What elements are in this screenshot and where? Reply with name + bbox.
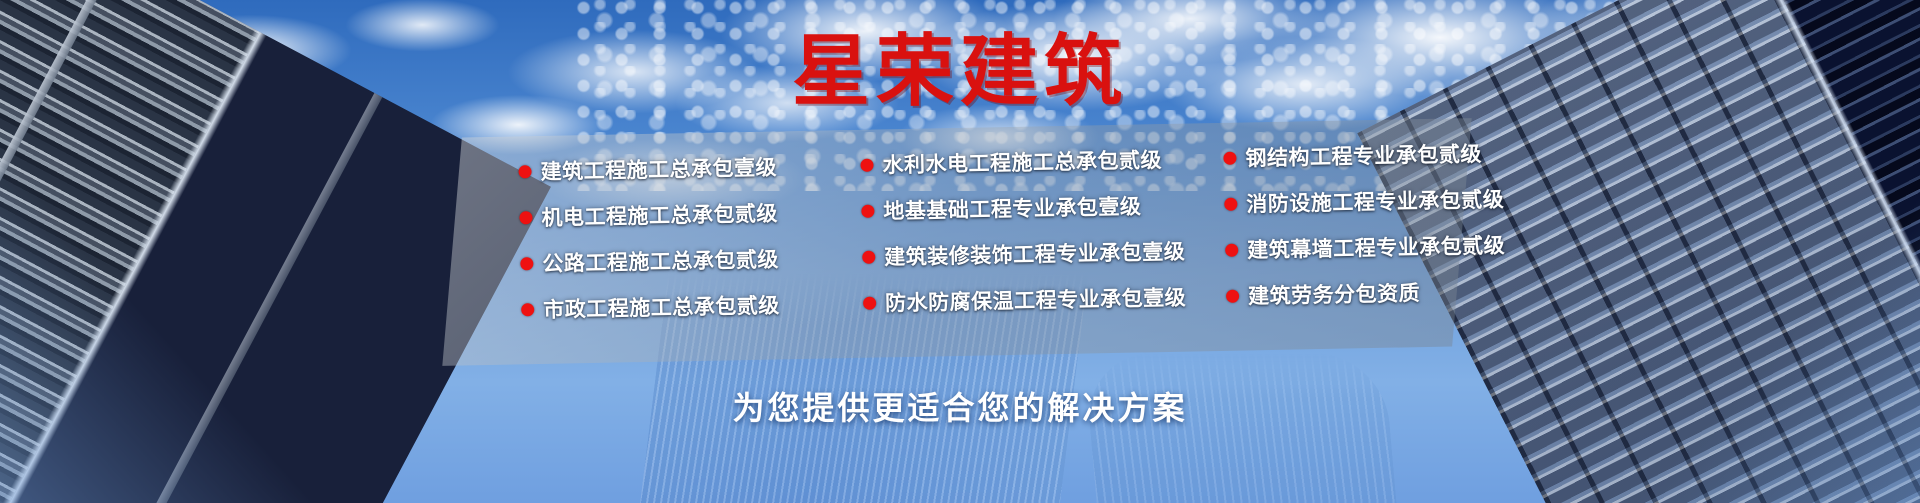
list-item: 机电工程施工总承包贰级 — [519, 194, 850, 234]
list-item: 建筑幕墙工程专业承包贰级 — [1225, 227, 1556, 267]
list-item-label: 机电工程施工总承包贰级 — [541, 197, 778, 232]
qualification-column-3: 钢结构工程专业承包贰级 消防设施工程专业承包贰级 建筑幕墙工程专业承包贰级 建筑… — [1205, 135, 1557, 352]
qualification-list: 建筑工程施工总承包壹级 机电工程施工总承包贰级 公路工程施工总承包贰级 市政工程… — [450, 118, 1464, 365]
list-item-label: 公路工程施工总承包贰级 — [542, 243, 779, 278]
list-item: 消防设施工程专业承包贰级 — [1224, 181, 1555, 221]
list-item: 水利水电工程施工总承包贰级 — [860, 141, 1206, 182]
list-item: 市政工程施工总承包贰级 — [521, 286, 852, 326]
list-item: 地基基础工程专业承包壹级 — [861, 187, 1207, 228]
list-item-label: 防水防腐保温工程专业承包壹级 — [885, 282, 1187, 318]
bullet-dot-icon — [521, 303, 534, 316]
bullet-dot-icon — [862, 250, 875, 263]
bullet-dot-icon — [1223, 151, 1236, 164]
page-title: 星荣建筑 — [0, 28, 1920, 114]
bullet-dot-icon — [861, 204, 874, 217]
bullet-dot-icon — [518, 165, 531, 178]
list-item: 公路工程施工总承包贰级 — [520, 240, 851, 280]
tagline: 为您提供更适合您的解决方案 — [0, 388, 1920, 428]
bullet-dot-icon — [1226, 289, 1239, 302]
qualification-column-2: 水利水电工程施工总承包贰级 地基基础工程专业承包壹级 建筑装修装饰工程专业承包壹… — [848, 141, 1209, 358]
list-item: 建筑装修装饰工程专业承包壹级 — [862, 233, 1208, 274]
hero-banner: 星荣建筑 建筑工程施工总承包壹级 机电工程施工总承包贰级 公路工程施工总承包贰级… — [0, 0, 1920, 503]
qualification-column-1: 建筑工程施工总承包壹级 机电工程施工总承包贰级 公路工程施工总承包贰级 市政工程… — [450, 148, 852, 366]
bullet-dot-icon — [1225, 243, 1238, 256]
list-item-label: 建筑工程施工总承包壹级 — [540, 151, 777, 186]
list-item-label: 建筑装修装饰工程专业承包壹级 — [884, 236, 1186, 272]
bullet-dot-icon — [1224, 197, 1237, 210]
bullet-dot-icon — [863, 296, 876, 309]
list-item: 防水防腐保温工程专业承包壹级 — [863, 279, 1209, 320]
list-item-label: 市政工程施工总承包贰级 — [543, 289, 780, 324]
center-tower-secondary-photo — [1083, 353, 1396, 503]
bullet-dot-icon — [519, 211, 532, 224]
bullet-dot-icon — [860, 158, 873, 171]
list-item: 钢结构工程专业承包贰级 — [1223, 135, 1554, 175]
list-item: 建筑劳务分包资质 — [1226, 273, 1557, 313]
list-item-label: 建筑劳务分包资质 — [1248, 277, 1421, 310]
list-item-label: 钢结构工程专业承包贰级 — [1245, 138, 1482, 173]
list-item: 建筑工程施工总承包壹级 — [518, 148, 849, 188]
list-item-label: 建筑幕墙工程专业承包贰级 — [1247, 229, 1506, 264]
list-item-label: 地基基础工程专业承包壹级 — [883, 190, 1142, 225]
list-item-label: 消防设施工程专业承包贰级 — [1246, 183, 1505, 218]
list-item-label: 水利水电工程施工总承包贰级 — [882, 144, 1162, 179]
bullet-dot-icon — [520, 257, 533, 270]
